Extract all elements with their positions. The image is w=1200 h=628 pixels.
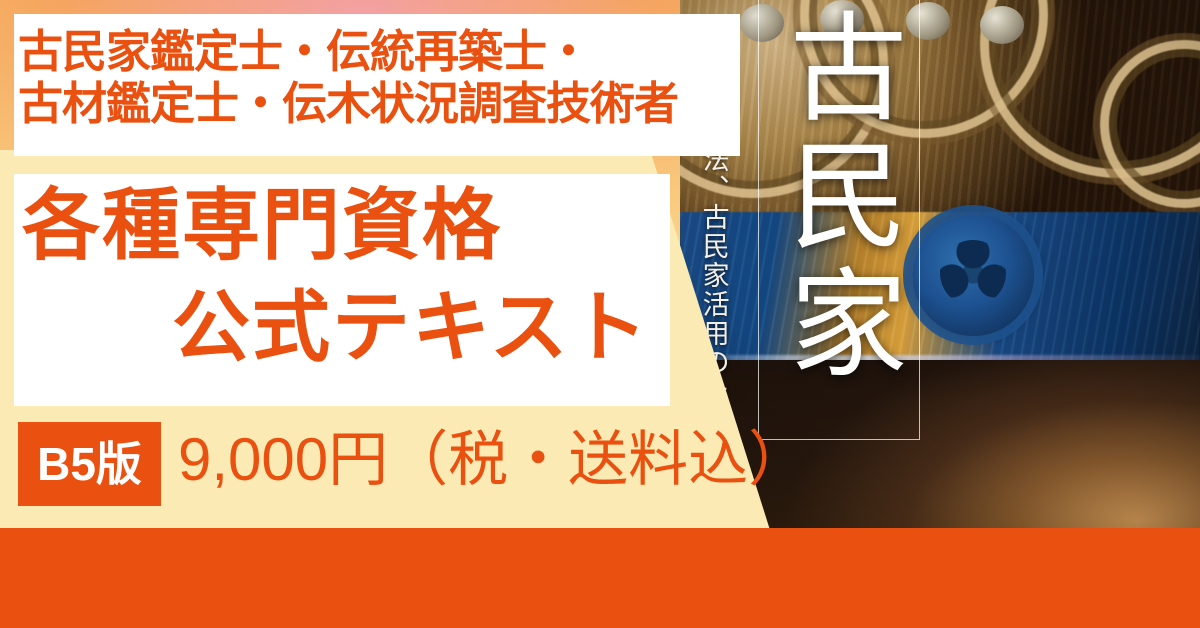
- qualification-list: 古民家鑑定士・伝統再築士・ 古材鑑定士・伝木状況調査技術者: [18, 26, 738, 130]
- price-text: 9,000円（税・送料込）: [178, 430, 808, 490]
- title-line-2: 公式テキスト: [172, 288, 650, 366]
- cover-title: 古民家: [772, 6, 904, 390]
- size-badge: B5版: [18, 422, 161, 506]
- promo-banner: 伝統構法、古民家活用のための調査と再生の 古民家 古民家鑑定士・伝統再築士・ 古…: [0, 0, 1200, 628]
- size-badge-label: B5版: [37, 441, 142, 487]
- title-line-1: 各種専門資格: [22, 186, 502, 264]
- qualification-line-1: 古民家鑑定士・伝統再築士・: [18, 26, 738, 78]
- cta-bar[interactable]: 詳細・ご購入はこちら: [0, 528, 1200, 628]
- qualification-line-2: 古材鑑定士・伝木状況調査技術者: [18, 78, 738, 130]
